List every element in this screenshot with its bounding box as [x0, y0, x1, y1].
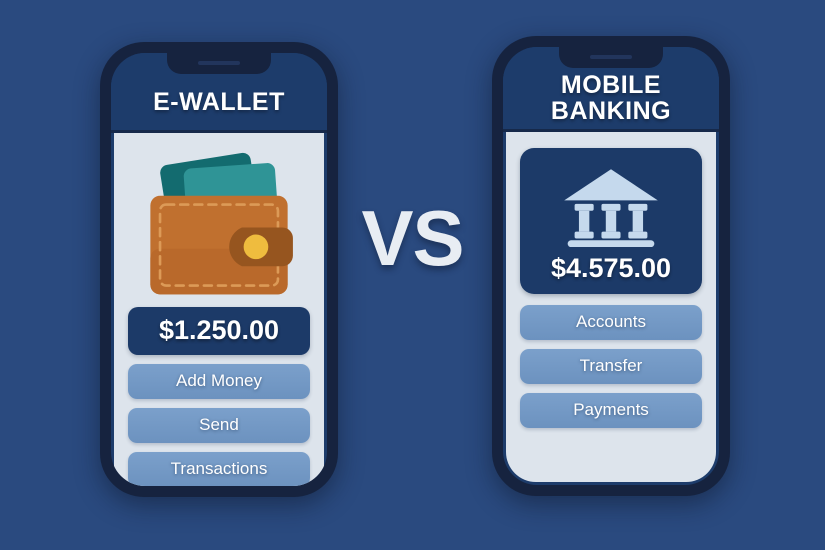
bank-balance-card: $4.575.00: [520, 148, 702, 294]
phone-mockup-ewallet: E-WALLET: [100, 42, 338, 497]
button-add-money[interactable]: Add Money: [128, 364, 310, 399]
phone-mockup-mobile-banking: MOBILE BANKING: [492, 36, 730, 496]
speaker-slit-icon: [198, 61, 240, 65]
bank-icon: [559, 164, 663, 247]
mobile-banking-balance: $4.575.00: [551, 253, 671, 284]
phone-notch: [167, 53, 271, 74]
screen-ewallet: E-WALLET: [111, 53, 327, 486]
ewallet-balance: $1.250.00: [128, 307, 310, 355]
ewallet-content-panel: $1.250.00 Add Money Send Transactions: [114, 133, 324, 486]
mobile-banking-actions: Accounts Transfer Payments: [520, 305, 702, 428]
wallet-illustration: [128, 143, 310, 301]
wallet-icon: [131, 143, 307, 301]
wallet-clasp-button-icon: [244, 235, 269, 260]
button-transactions[interactable]: Transactions: [128, 452, 310, 486]
ewallet-title-text: E-WALLET: [153, 88, 285, 117]
mobile-banking-content-panel: $4.575.00 Accounts Transfer Payments: [506, 132, 716, 482]
mobile-banking-title-line-1: MOBILE: [551, 72, 671, 98]
button-payments[interactable]: Payments: [520, 393, 702, 428]
phone-notch: [559, 47, 663, 68]
screen-mobile-banking: MOBILE BANKING: [503, 47, 719, 485]
ewallet-actions: Add Money Send Transactions: [128, 364, 310, 486]
speaker-slit-icon: [590, 55, 632, 59]
comparison-stage: E-WALLET: [0, 0, 825, 550]
mobile-banking-title-line-2: BANKING: [551, 98, 671, 124]
button-transfer[interactable]: Transfer: [520, 349, 702, 384]
button-accounts[interactable]: Accounts: [520, 305, 702, 340]
versus-label: VS: [361, 199, 463, 277]
button-send[interactable]: Send: [128, 408, 310, 443]
